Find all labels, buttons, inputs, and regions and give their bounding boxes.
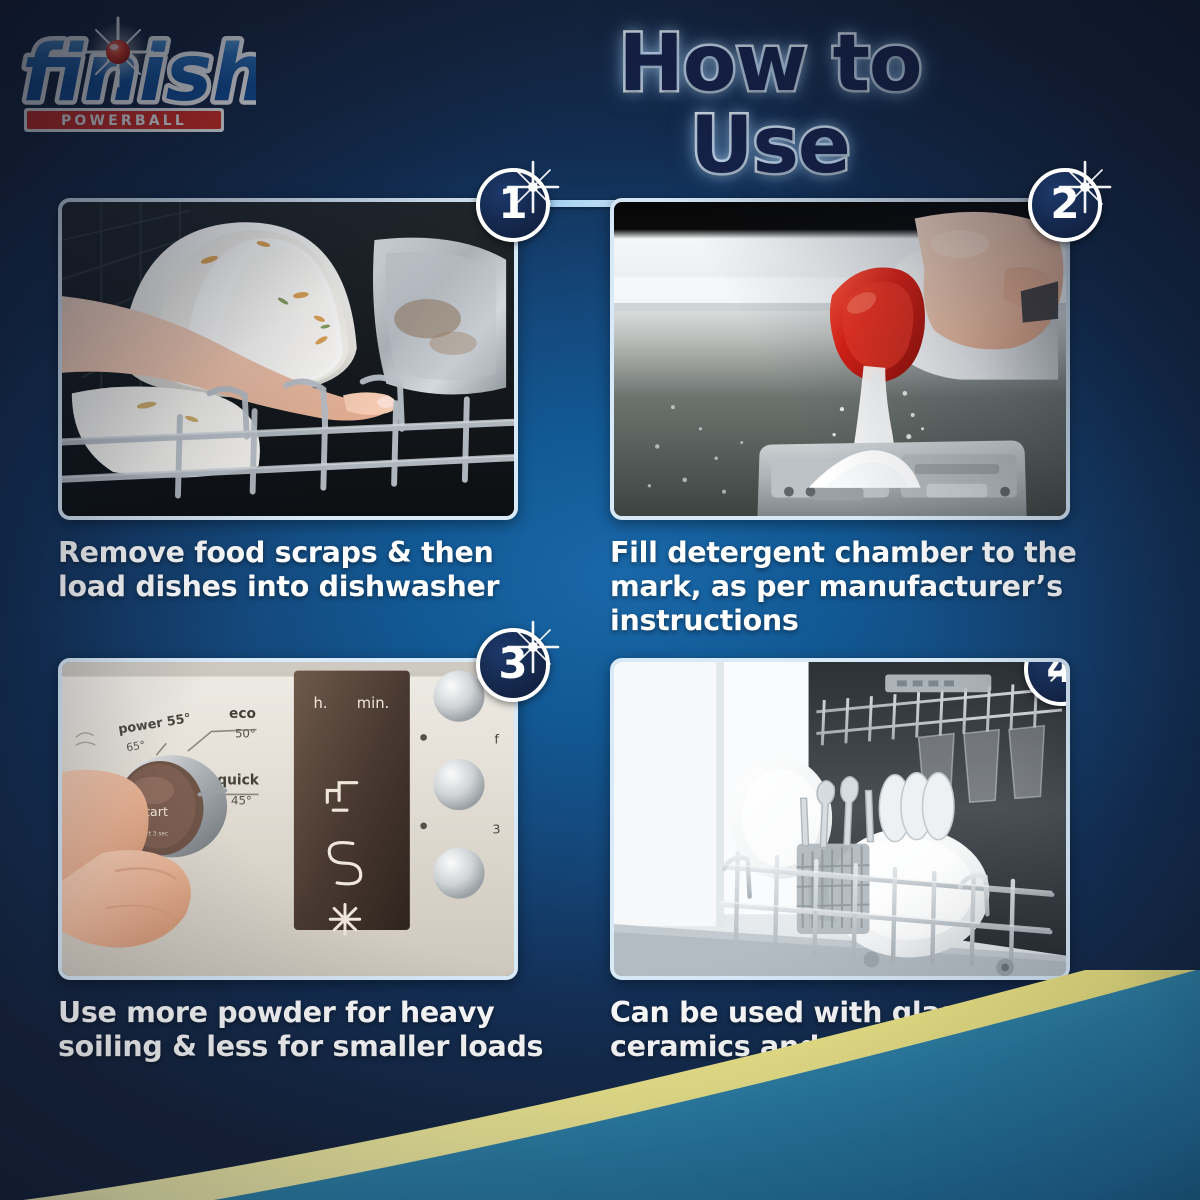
badge-number: 3 xyxy=(476,628,550,702)
step-2-photo-wrap: 2 xyxy=(610,198,1070,520)
step-card-1: 1 Remove food scraps & then load dishes … xyxy=(58,198,528,604)
step-1-photo-wrap: 1 xyxy=(58,198,518,520)
svg-text:h.: h. xyxy=(314,695,328,712)
step-badge-4: 4 xyxy=(1024,658,1070,706)
step-card-3: power 55° 65° eco 50° quick 45° xyxy=(58,658,528,1064)
step-caption-1: Remove food scraps & then load dishes in… xyxy=(58,536,558,604)
how-to-use-infographic: finish finish POWERBALL How to Use xyxy=(0,0,1200,1200)
step-badge-3: 3 xyxy=(476,628,550,702)
svg-text:min.: min. xyxy=(357,695,389,712)
step-card-2: 2 Fill detergent chamber to the mark, as… xyxy=(610,198,1080,639)
step-badge-2: 2 xyxy=(1028,168,1102,242)
page-title-block: How to Use xyxy=(530,24,1010,207)
step-badge-1: 1 xyxy=(476,168,550,242)
svg-text:quick: quick xyxy=(217,773,259,789)
svg-text:45°: 45° xyxy=(231,793,252,807)
photo-hand-turning-program-dial: power 55° 65° eco 50° quick 45° xyxy=(58,658,518,980)
photo-pouring-powder-into-dispenser xyxy=(610,198,1070,520)
finish-powerball-logo: finish finish POWERBALL xyxy=(14,12,256,144)
step-caption-3: Use more powder for heavy soiling & less… xyxy=(58,996,558,1064)
logo-artwork: finish finish POWERBALL xyxy=(14,12,256,144)
step-caption-4: Can be used with glassware, ceramics and… xyxy=(610,996,1110,1064)
svg-text:eco: eco xyxy=(229,706,256,722)
photo-open-dishwasher-clean-dishes: 4 xyxy=(610,658,1070,980)
badge-number: 2 xyxy=(1028,168,1102,242)
step-3-photo-wrap: power 55° 65° eco 50° quick 45° xyxy=(58,658,518,980)
svg-text:50°: 50° xyxy=(235,726,256,740)
page-title: How to Use xyxy=(530,24,1010,188)
svg-text:f: f xyxy=(494,732,499,747)
badge-number: 4 xyxy=(1024,658,1070,706)
step-caption-2: Fill detergent chamber to the mark, as p… xyxy=(610,536,1110,639)
step-card-4: 4 Can be used with glassware, ceramics a… xyxy=(610,658,1080,1064)
svg-text:3: 3 xyxy=(492,823,500,838)
badge-number: 1 xyxy=(476,168,550,242)
svg-text:POWERBALL: POWERBALL xyxy=(61,113,187,129)
photo-hand-loading-dirty-plates xyxy=(58,198,518,520)
